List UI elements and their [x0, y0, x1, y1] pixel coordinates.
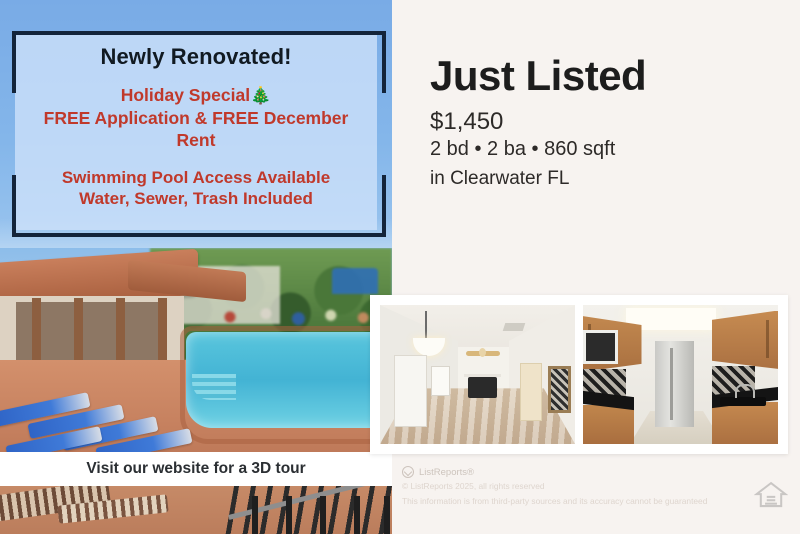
living-room-photo [380, 305, 575, 444]
brand-name: ListReports® [419, 467, 474, 478]
kitchen-photo [583, 305, 778, 444]
copyright-text: © ListReports 2025, all rights reserved [402, 480, 792, 493]
hero-column: Newly Renovated! Holiday Special🎄 FREE A… [0, 0, 392, 534]
offer-line-1: Holiday Special [121, 85, 250, 105]
listing-specs: 2 bd • 2 ba • 860 sqft [430, 138, 615, 161]
footer: ListReports® © ListReports 2025, all rig… [402, 466, 792, 507]
listing-location: in Clearwater FL [430, 168, 569, 190]
interior-photo-card [370, 295, 788, 454]
community-pool-photo [0, 248, 392, 460]
listreports-logo-icon [402, 466, 414, 478]
listing-flyer: Newly Renovated! Holiday Special🎄 FREE A… [0, 0, 800, 534]
tour-caption: Visit our website for a 3D tour [86, 460, 305, 478]
offer-line-2: FREE Application & FREE December Rent [44, 108, 349, 150]
listing-price: $1,450 [430, 108, 503, 136]
disclaimer-text: This information is from third-party sou… [402, 495, 792, 508]
promo-offer: Holiday Special🎄 FREE Application & FREE… [24, 84, 369, 152]
amenity-line-2: Water, Sewer, Trash Included [79, 189, 313, 208]
tour-caption-band: Visit our website for a 3D tour [0, 452, 392, 486]
listing-status: Just Listed [430, 55, 646, 97]
pool-deck-fence-photo [0, 486, 392, 534]
promo-headline: Newly Renovated! [100, 44, 291, 70]
lounge-chairs [0, 396, 224, 460]
christmas-tree-icon: 🎄 [250, 86, 271, 105]
equal-housing-opportunity-icon [754, 478, 788, 512]
amenity-line-1: Swimming Pool Access Available [62, 168, 330, 187]
listreports-brand: ListReports® [402, 466, 792, 478]
promo-text-group: Newly Renovated! Holiday Special🎄 FREE A… [15, 34, 377, 234]
promo-amenities: Swimming Pool Access Available Water, Se… [20, 167, 372, 211]
